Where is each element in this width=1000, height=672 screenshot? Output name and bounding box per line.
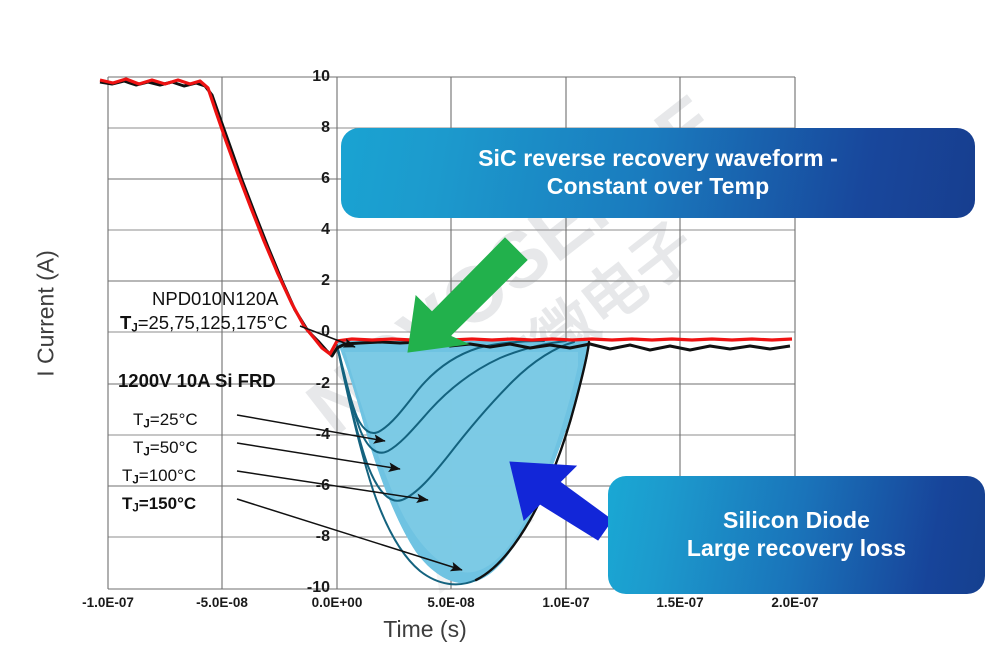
tj-value: =25,75,125,175°C [138, 312, 288, 333]
xtick-7: 2.0E-07 [735, 595, 855, 610]
callout-silicon[interactable]: Silicon Diode Large recovery loss [608, 476, 985, 594]
ytick-6: 6 [286, 170, 330, 188]
green-arrow-icon [408, 238, 527, 352]
xtick-4: 5.0E-08 [391, 595, 511, 610]
tj-prefix: T [122, 466, 132, 485]
ytick-m6: -6 [286, 477, 330, 495]
tj-value: =100°C [139, 466, 196, 485]
tj-value: =25°C [150, 410, 198, 429]
ytick-2: 2 [286, 272, 330, 290]
tj-value: =150°C [139, 494, 196, 513]
ytick-8: 8 [286, 119, 330, 137]
annotation-si-25c: TJ=25°C [133, 410, 198, 431]
ytick-4: 4 [286, 221, 330, 239]
tj-prefix: T [120, 312, 131, 333]
xtick-1: -1.0E-07 [48, 595, 168, 610]
xtick-2: -5.0E-08 [162, 595, 282, 610]
ytick-m8: -8 [286, 528, 330, 546]
callout-sic-line1: SiC reverse recovery waveform - [478, 145, 838, 173]
shaded-recovery-area [337, 341, 589, 583]
callout-silicon-line2: Large recovery loss [687, 535, 906, 563]
annotation-sic-temps: TJ=25,75,125,175°C [120, 312, 288, 335]
xtick-5: 1.0E-07 [506, 595, 626, 610]
callout-sic[interactable]: SiC reverse recovery waveform - Constant… [341, 128, 975, 218]
tj-prefix: T [133, 438, 143, 457]
annotation-si-50c: TJ=50°C [133, 438, 198, 459]
tj-prefix: T [133, 410, 143, 429]
annotation-device-si: 1200V 10A Si FRD [118, 370, 276, 392]
ytick-10: 10 [286, 68, 330, 86]
annotation-device-sic: NPD010N120A [152, 288, 279, 310]
xtick-6: 1.5E-07 [620, 595, 740, 610]
x-axis-title: Time (s) [335, 616, 515, 643]
tj-value: =50°C [150, 438, 198, 457]
ytick-m2: -2 [286, 375, 330, 393]
annotation-si-150c: TJ=150°C [122, 494, 196, 515]
ytick-0: 0 [286, 323, 330, 341]
y-axis-title: I Current (A) [33, 234, 60, 394]
ytick-m4: -4 [286, 426, 330, 444]
xtick-3: 0.0E+00 [277, 595, 397, 610]
tj-prefix: T [122, 494, 132, 513]
callout-silicon-line1: Silicon Diode [687, 507, 906, 535]
annotation-si-100c: TJ=100°C [122, 466, 196, 487]
callout-sic-line2: Constant over Temp [478, 173, 838, 201]
